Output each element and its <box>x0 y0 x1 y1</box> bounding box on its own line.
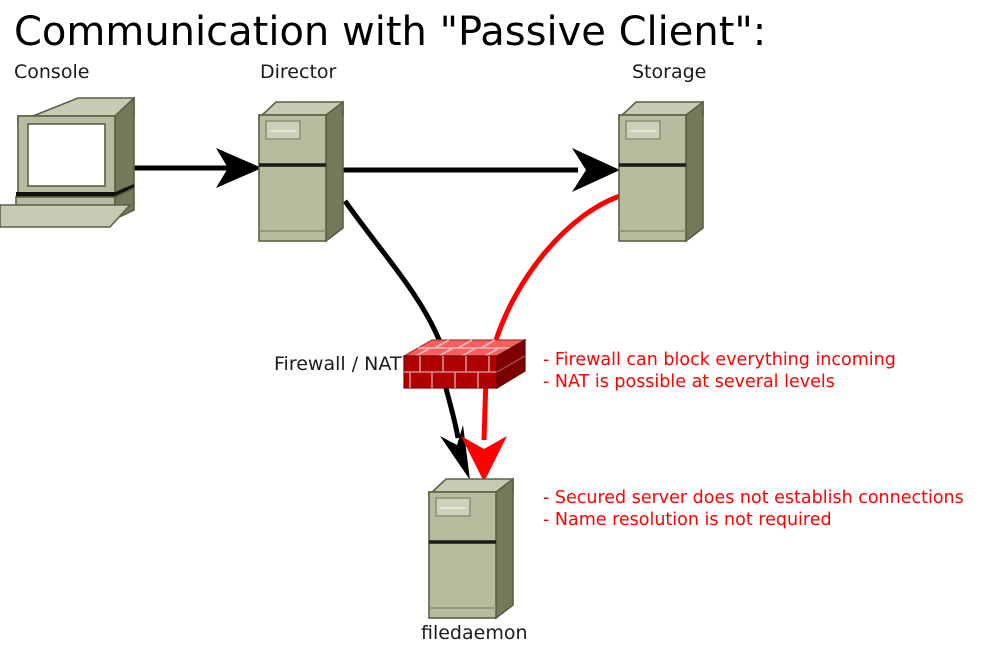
note-filedaemon-line-1: - Secured server does not establish conn… <box>543 488 964 508</box>
diagram-canvas: Communication with "Passive Client": Con… <box>0 0 1000 648</box>
node-firewall[interactable] <box>404 340 525 388</box>
filedaemon-tower-side <box>496 479 513 618</box>
node-label-console: Console <box>14 61 89 83</box>
director-tower-side <box>326 102 343 241</box>
note-firewall-line-2: - NAT is possible at several levels <box>543 372 835 392</box>
node-filedaemon[interactable] <box>429 479 513 618</box>
note-firewall-line-1: - Firewall can block everything incoming <box>543 350 896 370</box>
communication-diagram: Communication with "Passive Client": Con… <box>0 0 1000 648</box>
console-keyboard <box>0 205 130 227</box>
console-screen <box>28 124 105 186</box>
node-director[interactable] <box>259 102 343 241</box>
node-console[interactable] <box>0 98 134 227</box>
note-filedaemon-line-2: - Name resolution is not required <box>543 510 832 530</box>
console-monitor-side <box>115 98 134 198</box>
page-title: Communication with "Passive Client": <box>14 9 766 55</box>
storage-tower-side <box>686 102 703 241</box>
node-storage[interactable] <box>619 102 703 241</box>
node-label-storage: Storage <box>632 61 706 83</box>
node-label-firewall: Firewall / NAT <box>274 353 402 375</box>
node-label-director: Director <box>260 61 337 83</box>
node-label-filedaemon: filedaemon <box>421 622 528 644</box>
